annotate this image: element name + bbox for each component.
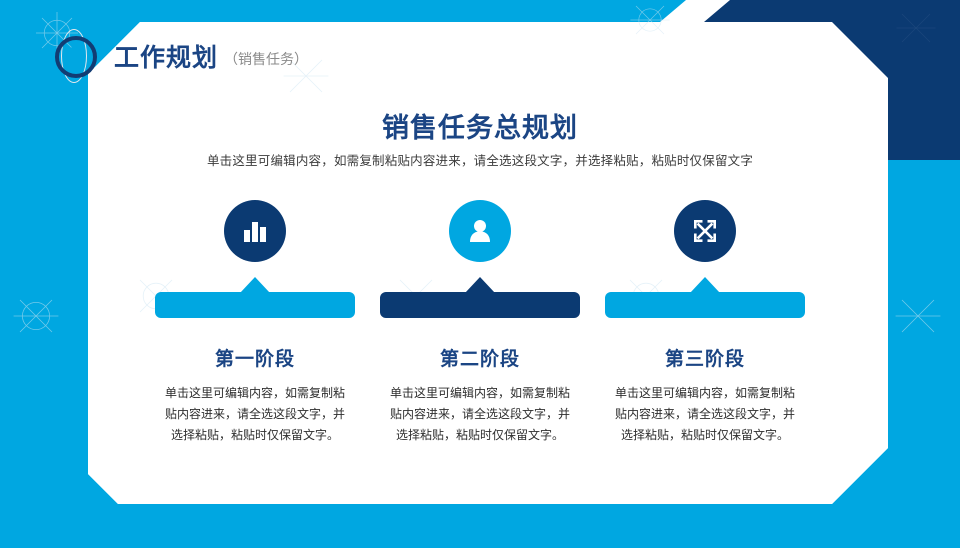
expand-arrows-icon [690,216,720,246]
bar-chart-icon [240,216,270,246]
stage-columns: 第一阶段 单击这里可编辑内容，如需复制粘贴内容进来，请全选这段文字，并选择粘贴，… [155,200,805,446]
stage-1-body: 单击这里可编辑内容，如需复制粘贴内容进来，请全选这段文字，并选择粘贴，粘贴时仅保… [162,383,348,446]
stage-3-icon-badge [674,200,736,262]
page-subtitle: 单击这里可编辑内容，如需复制粘贴内容进来，请全选这段文字，并选择粘贴，粘贴时仅保… [0,150,960,169]
stage-2-body: 单击这里可编辑内容，如需复制粘贴内容进来，请全选这段文字，并选择粘贴，粘贴时仅保… [387,383,573,446]
target-dot-icon [52,33,98,79]
stage-3-body: 单击这里可编辑内容，如需复制粘贴内容进来，请全选这段文字，并选择粘贴，粘贴时仅保… [612,383,798,446]
stage-2-icon-badge [449,200,511,262]
header-title: 工作规划 [114,38,218,74]
badge-dot [66,47,82,63]
stage-1-bar-body [155,292,355,318]
slide-canvas: 工作规划 （销售任务） 销售任务总规划 单击这里可编辑内容，如需复制粘贴内容进来… [0,0,960,548]
stage-3-bar-pointer [690,277,720,293]
header-subtitle: （销售任务） [224,43,308,69]
stage-column-1: 第一阶段 单击这里可编辑内容，如需复制粘贴内容进来，请全选这段文字，并选择粘贴，… [155,200,355,446]
stage-2-title: 第二阶段 [440,344,520,371]
user-person-icon [465,216,495,246]
slide-header: 工作规划 （销售任务） [52,30,308,82]
stage-1-bar-pointer [240,277,270,293]
stage-3-bar-body [605,292,805,318]
stage-1-icon-badge [224,200,286,262]
stage-1-title: 第一阶段 [215,344,295,371]
stage-2-bar-body [380,292,580,318]
stage-3-title: 第三阶段 [665,344,745,371]
stage-1-bar [155,277,355,318]
stage-2-bar [380,277,580,318]
stage-column-3: 第三阶段 单击这里可编辑内容，如需复制粘贴内容进来，请全选这段文字，并选择粘贴，… [605,200,805,446]
stage-2-bar-pointer [465,277,495,293]
page-title: 销售任务总规划 [0,106,960,145]
stage-column-2: 第二阶段 单击这里可编辑内容，如需复制粘贴内容进来，请全选这段文字，并选择粘贴，… [380,200,580,446]
stage-3-bar [605,277,805,318]
